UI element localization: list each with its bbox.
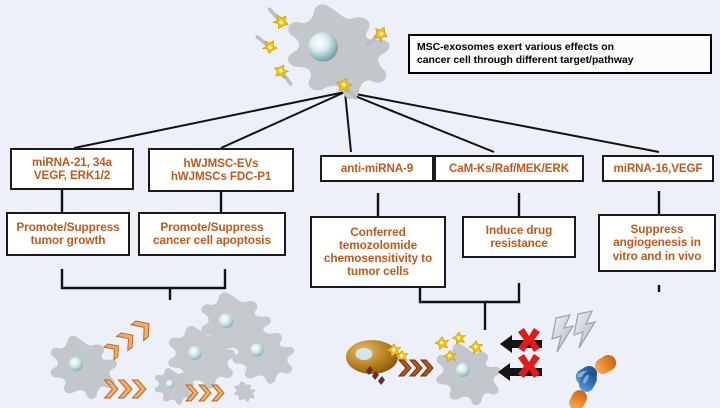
effect-box-angiogenesis[interactable]: Suppress angiogenesis in vitro and in vi…	[598, 214, 716, 272]
chevron-arrow-icon-transfer	[399, 360, 433, 376]
effect-box-tumor-growth[interactable]: Promote/Suppress tumor growth	[6, 212, 130, 256]
effect-box-temozolomide-label: Conferred temozolomide chemosensitivity …	[324, 226, 432, 279]
target-box-mirna21[interactable]: miRNA-21, 34a VEGF, ERK1/2	[10, 148, 134, 190]
blocked-arrow-icon	[498, 328, 542, 381]
effect-box-temozolomide[interactable]: Conferred temozolomide chemosensitivity …	[310, 216, 446, 288]
summary-title-text: MSC-exosomes exert various effects on ca…	[417, 41, 634, 67]
resistant-cancer-cell	[435, 332, 501, 405]
apoptosis-chevron-group	[105, 380, 147, 398]
target-box-mirna16-label: miRNA-16,VEGF	[614, 162, 703, 175]
target-box-mirna21-label: miRNA-21, 34a VEGF, ERK1/2	[32, 156, 112, 182]
diagram-canvas: MSC-exosomes exert various effects on ca…	[0, 0, 720, 408]
proliferation-cell-cluster	[168, 292, 294, 389]
effect-box-angiogenesis-label: Suppress angiogenesis in vitro and in vi…	[613, 223, 702, 263]
target-box-anti-mirna9[interactable]: anti-miRNA-9	[320, 155, 434, 182]
target-box-camks-label: CaM-Ks/Raf/MEK/ERK	[449, 162, 569, 175]
effect-box-apoptosis[interactable]: Promote/Suppress cancer cell apoptosis	[138, 212, 286, 256]
effect-box-apoptosis-label: Promote/Suppress cancer cell apoptosis	[153, 221, 271, 247]
effect-box-drug-resistance-label: Induce drug resistance	[486, 224, 552, 250]
msc-donor-cell	[346, 340, 408, 385]
effect-box-tumor-growth-label: Promote/Suppress tumor growth	[16, 221, 119, 247]
target-box-mirna16[interactable]: miRNA-16,VEGF	[602, 155, 714, 182]
nucleus-icon	[308, 33, 338, 62]
lightning-bolt-icon	[552, 311, 595, 352]
target-box-hwjmsc-label: hWJMSC-EVs hWJMSCs FDC-P1	[171, 157, 271, 183]
drug-capsule-icon	[567, 352, 620, 408]
chevron-arrow-icon	[104, 316, 155, 360]
apoptosis-chevron-group-2	[186, 385, 224, 401]
summary-title-box: MSC-exosomes exert various effects on ca…	[408, 34, 712, 74]
target-box-camks[interactable]: CaM-Ks/Raf/MEK/ERK	[434, 155, 584, 182]
apoptotic-cell-debris	[234, 382, 255, 402]
target-box-anti-mirna9-label: anti-miRNA-9	[341, 162, 413, 175]
target-box-hwjmsc[interactable]: hWJMSC-EVs hWJMSCs FDC-P1	[148, 148, 294, 192]
effect-box-drug-resistance[interactable]: Induce drug resistance	[462, 216, 576, 258]
connector-lines-hub	[74, 92, 659, 152]
